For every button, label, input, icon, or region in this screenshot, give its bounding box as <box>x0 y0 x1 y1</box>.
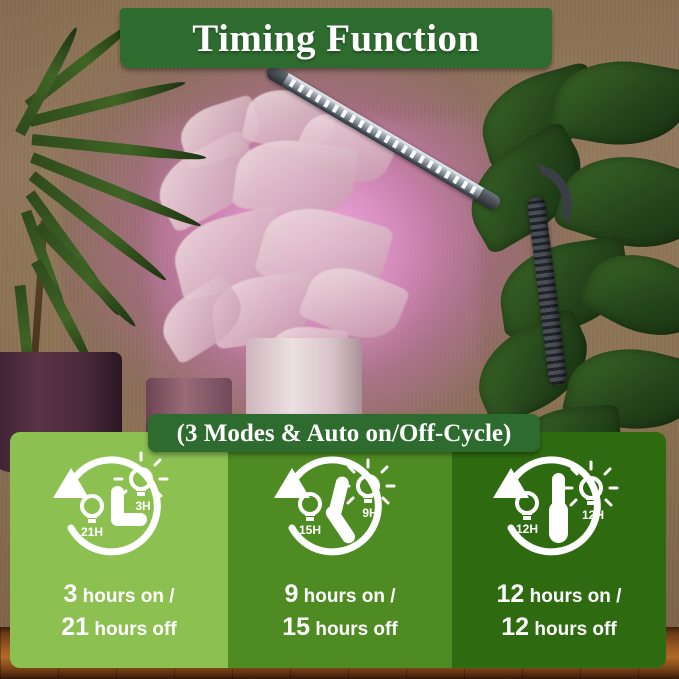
on-hours-label: hours on / <box>77 586 174 607</box>
off-hours-label: hours off <box>310 619 398 640</box>
product-feature-image: Timing Function (3 Modes & Auto on/Off-C… <box>0 0 679 679</box>
bulb-on-label: 3H <box>135 499 150 513</box>
timer-cycle-icon: 21H 3H <box>39 446 199 572</box>
mode-panel-3h[interactable]: 21H 3H 3 hours <box>10 432 228 668</box>
off-hours-value: 15 <box>282 613 310 641</box>
bulb-on-label: 9H <box>362 506 377 520</box>
mode-panel-12h[interactable]: 12H 12H 12 hour <box>452 432 666 668</box>
mode-caption-9h: 9 hours on / 15 hours off <box>282 578 397 644</box>
bulb-off-label: 15H <box>299 523 321 537</box>
subtitle-banner: (3 Modes & Auto on/Off-Cycle) <box>148 414 540 452</box>
subtitle-text: (3 Modes & Auto on/Off-Cycle) <box>177 421 512 446</box>
bulb-on-label: 12H <box>582 508 604 522</box>
mode-caption-3h: 3 hours on / 21 hours off <box>61 578 176 644</box>
timing-modes-panels: 21H 3H 3 hours <box>10 432 666 668</box>
mode-caption-12h: 12 hours on / 12 hours off <box>497 578 622 644</box>
title-banner: Timing Function <box>120 8 552 68</box>
on-hours-value: 3 <box>63 580 77 608</box>
timer-cycle-icon: 12H 12H <box>479 446 639 572</box>
timer-cycle-icon: 15H 9H <box>260 446 420 572</box>
bulb-off-label: 21H <box>81 525 103 539</box>
on-hours-value: 9 <box>284 580 298 608</box>
off-hours-value: 21 <box>61 613 89 641</box>
bulb-off-label: 12H <box>516 522 538 536</box>
off-hours-label: hours off <box>529 619 617 640</box>
page-title: Timing Function <box>192 19 479 58</box>
on-hours-label: hours on / <box>298 586 395 607</box>
off-hours-value: 12 <box>501 613 529 641</box>
on-hours-label: hours on / <box>524 586 621 607</box>
mode-panel-9h[interactable]: 15H 9H 9 hours <box>228 432 452 668</box>
off-hours-label: hours off <box>89 619 177 640</box>
on-hours-value: 12 <box>497 580 525 608</box>
